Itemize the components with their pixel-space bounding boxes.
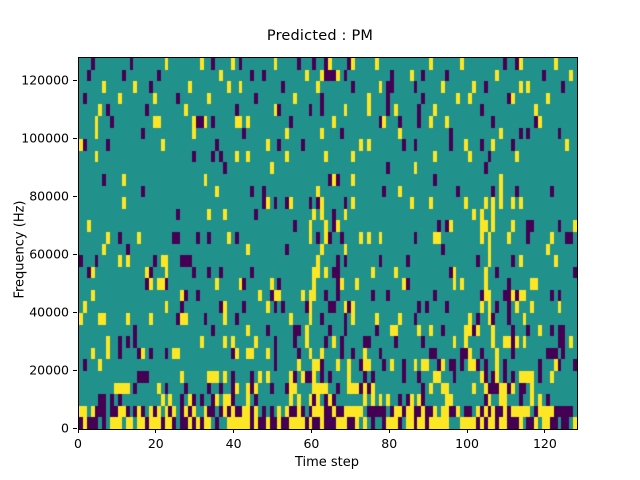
y-tick-mark: [73, 196, 77, 197]
y-tick-mark: [73, 370, 77, 371]
heatmap-plot-area: [78, 57, 578, 430]
y-tick-label: 60000: [0, 247, 69, 262]
heatmap-canvas: [79, 58, 577, 429]
x-tick-mark: [233, 429, 234, 433]
y-tick-label: 40000: [0, 305, 69, 320]
x-tick-mark: [78, 429, 79, 433]
x-tick-label: 40: [226, 436, 242, 451]
x-tick-label: 80: [381, 436, 397, 451]
y-tick-mark: [73, 312, 77, 313]
x-tick-label: 100: [455, 436, 479, 451]
y-tick-mark: [73, 138, 77, 139]
x-tick-label: 60: [303, 436, 319, 451]
x-tick-mark: [155, 429, 156, 433]
y-tick-mark: [73, 428, 77, 429]
x-tick-mark: [311, 429, 312, 433]
x-tick-label: 0: [74, 436, 82, 451]
y-axis-label: Frequency (Hz): [13, 140, 28, 360]
x-tick-label: 20: [148, 436, 164, 451]
x-tick-mark: [389, 429, 390, 433]
x-axis-label: Time step: [78, 455, 576, 470]
y-tick-mark: [73, 254, 77, 255]
matplotlib-figure: Predicted : PM 0200004000060000800001000…: [0, 0, 640, 480]
y-tick-label: 20000: [0, 363, 69, 378]
y-tick-label: 80000: [0, 189, 69, 204]
x-tick-mark: [467, 429, 468, 433]
y-tick-label: 100000: [0, 131, 69, 146]
y-tick-label: 0: [0, 421, 69, 436]
chart-title: Predicted : PM: [0, 28, 640, 44]
x-tick-label: 120: [533, 436, 557, 451]
y-tick-mark: [73, 80, 77, 81]
x-tick-mark: [544, 429, 545, 433]
y-tick-label: 120000: [0, 73, 69, 88]
